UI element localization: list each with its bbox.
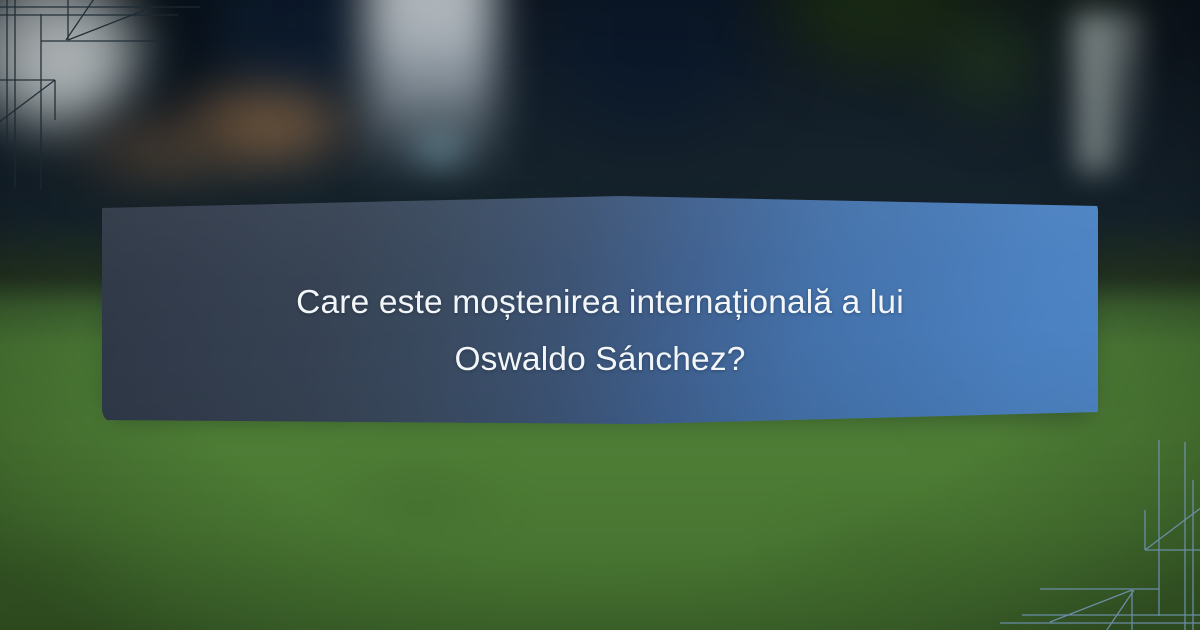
- question-card-surface: Care este moștenirea internațională a lu…: [102, 196, 1098, 424]
- question-card: Care este moștenirea internațională a lu…: [102, 196, 1098, 424]
- screenshot-stage: Care este moștenirea internațională a lu…: [0, 0, 1200, 630]
- question-text: Care este moștenirea internațională a lu…: [102, 274, 1098, 388]
